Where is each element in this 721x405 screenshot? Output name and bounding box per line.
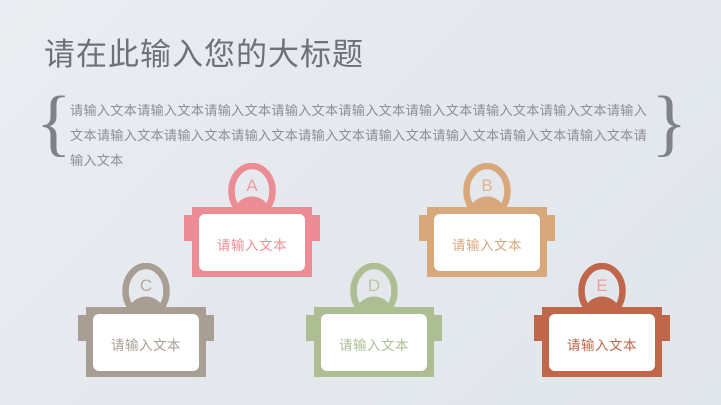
badge-shape-e [528, 263, 676, 383]
badge-panel-e [549, 314, 655, 371]
badge-panel-d [321, 314, 427, 371]
badge-c[interactable]: C请输入文本 [72, 263, 220, 383]
right-brace-icon: } [651, 86, 687, 160]
badge-d[interactable]: D请输入文本 [300, 263, 448, 383]
badge-shape-c [72, 263, 220, 383]
badge-panel-c [93, 314, 199, 371]
left-brace-icon: { [36, 86, 72, 160]
slide-canvas: 请在此输入您的大标题 { } 请输入文本请输入文本请输入文本请输入文本请输入文本… [0, 0, 721, 405]
quote-block: { } 请输入文本请输入文本请输入文本请输入文本请输入文本请输入文本请输入文本请… [34, 92, 689, 158]
quote-text: 请输入文本请输入文本请输入文本请输入文本请输入文本请输入文本请输入文本请输入文本… [70, 98, 647, 173]
badge-shape-d [300, 263, 448, 383]
badge-e[interactable]: E请输入文本 [528, 263, 676, 383]
page-title: 请在此输入您的大标题 [44, 29, 364, 74]
badge-panel-b [434, 214, 540, 271]
